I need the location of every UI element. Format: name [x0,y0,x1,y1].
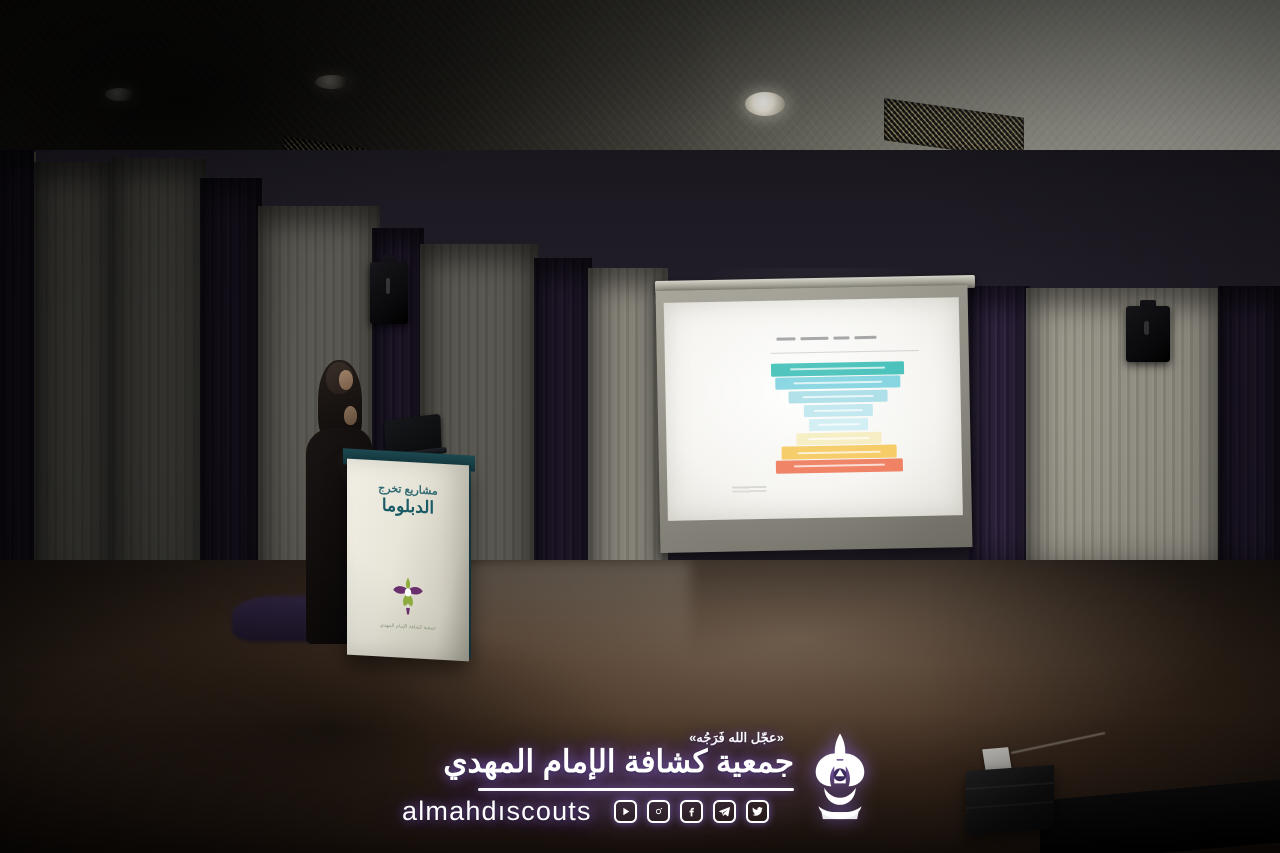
curtain-purple-5 [968,286,1030,596]
slide-funnel-band [809,418,868,431]
curtain-purple-6 [1218,286,1280,598]
slide-funnel-band-text [818,423,860,426]
slide-funnel-band [776,459,904,474]
laptop [384,414,441,457]
slide-funnel-band-text [808,437,869,440]
podium-subtitle: جمعية كشافة الإمام المهدي [347,621,469,634]
slide-funnel-diagram [771,361,906,481]
slide-title-divider [771,350,918,354]
four-leaf-clover-logo [385,573,431,622]
slide-funnel-band [789,390,887,404]
podium: مشاريع تخرج الدبلوما جمعية كشافة الإمام … [347,459,469,662]
curtain-cream-6 [1026,288,1222,600]
slide-footnote [732,486,766,496]
slide-title-text [777,335,913,341]
presenter-face [339,370,353,390]
slide-funnel-band-text [798,450,880,454]
photo-canvas: مشاريع تخرج الدبلوما جمعية كشافة الإمام … [0,0,1280,853]
projector-screen-surface [664,297,963,521]
slide-funnel-band-text [793,381,883,385]
slide-funnel-band [771,361,904,376]
slide-funnel-band-text [803,395,874,398]
presentation-slide [664,297,963,521]
slide-funnel-band-text [790,367,886,371]
slide-funnel-band [804,404,873,418]
slide-funnel-band-text [814,409,864,412]
presenter-hand [344,406,357,425]
slide-funnel-band [796,431,881,445]
foreground-stacked-object [966,765,1054,835]
podium-banner-text: مشاريع تخرج الدبلوما [347,481,469,520]
projector-screen [656,285,973,553]
slide-funnel-band [775,375,900,390]
slide-funnel-band [782,445,896,460]
speaker-left [370,262,408,324]
speaker-right [1126,306,1170,362]
slide-funnel-band-text [794,464,886,468]
